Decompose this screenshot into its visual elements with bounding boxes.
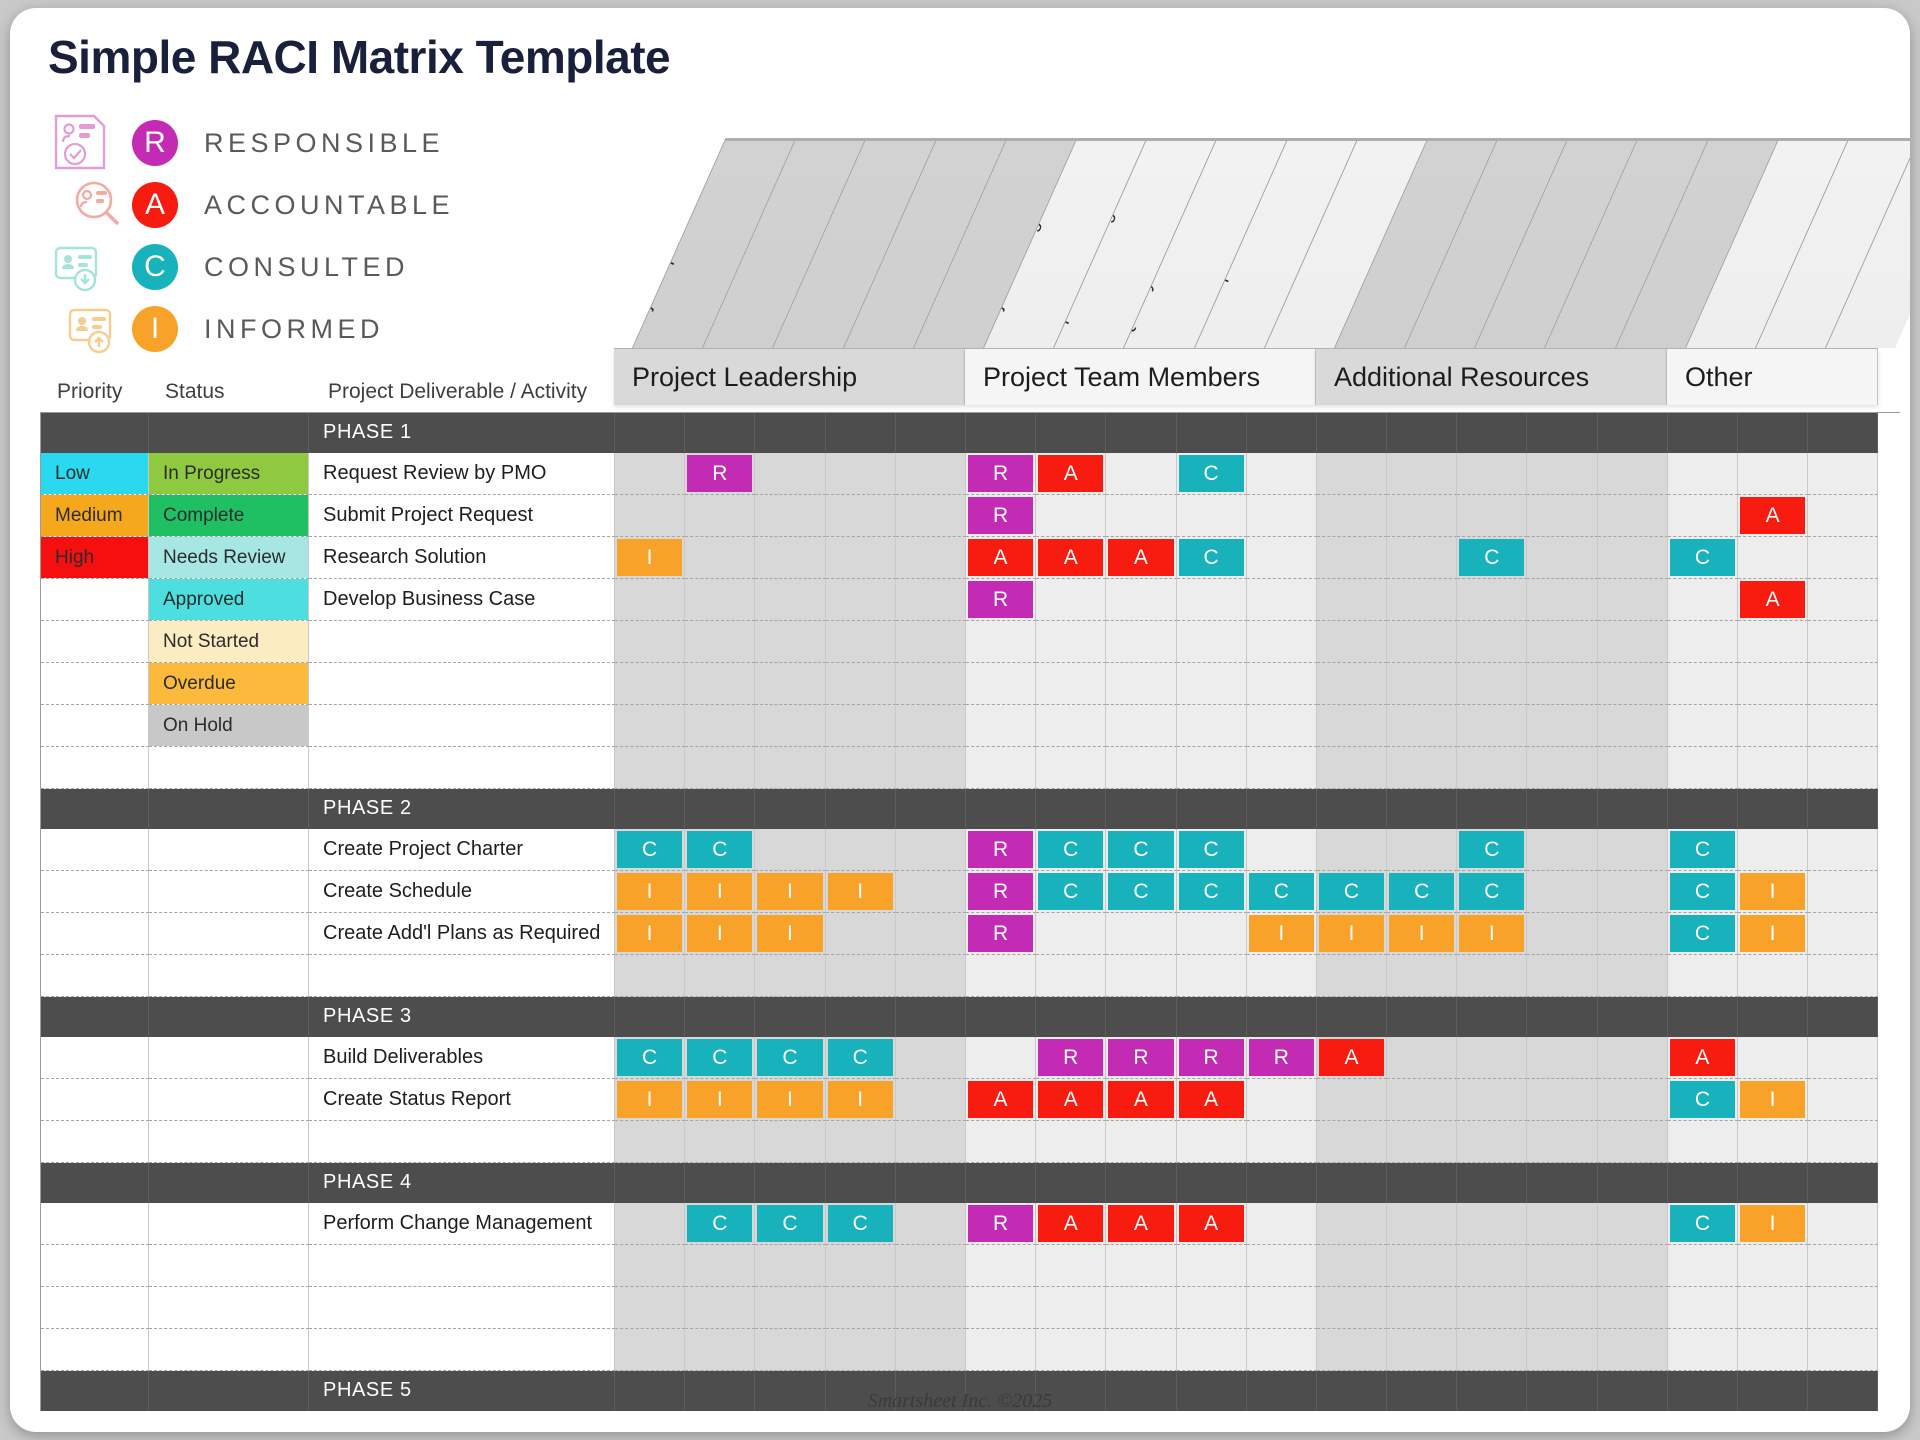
- status-cell[interactable]: [149, 1121, 309, 1163]
- raci-cell[interactable]: [1527, 663, 1597, 705]
- raci-cell[interactable]: [1387, 747, 1457, 789]
- raci-cell[interactable]: I: [615, 871, 685, 913]
- raci-cell[interactable]: [1808, 1329, 1878, 1371]
- raci-cell[interactable]: [1598, 705, 1668, 747]
- raci-cell[interactable]: [755, 537, 825, 579]
- raci-cell[interactable]: [826, 663, 896, 705]
- raci-cell[interactable]: [1177, 705, 1247, 747]
- raci-cell[interactable]: [615, 579, 685, 621]
- raci-cell[interactable]: C: [1036, 829, 1106, 871]
- raci-cell[interactable]: R: [966, 495, 1036, 537]
- raci-cell[interactable]: [685, 579, 755, 621]
- raci-cell[interactable]: [1317, 1245, 1387, 1287]
- raci-cell[interactable]: [1387, 621, 1457, 663]
- raci-cell[interactable]: [685, 413, 755, 453]
- raci-cell[interactable]: A: [1106, 537, 1176, 579]
- raci-cell[interactable]: [1808, 1163, 1878, 1203]
- status-cell[interactable]: [149, 789, 309, 829]
- raci-cell[interactable]: [1457, 997, 1527, 1037]
- activity-cell[interactable]: Build Deliverables: [309, 1037, 615, 1079]
- status-cell[interactable]: On Hold: [149, 705, 309, 747]
- raci-cell[interactable]: [755, 1245, 825, 1287]
- raci-cell[interactable]: [1247, 1245, 1317, 1287]
- status-cell[interactable]: Not Started: [149, 621, 309, 663]
- raci-cell[interactable]: C: [755, 1203, 825, 1245]
- raci-cell[interactable]: C: [1668, 829, 1738, 871]
- raci-cell[interactable]: [1808, 913, 1878, 955]
- raci-cell[interactable]: [1808, 1287, 1878, 1329]
- raci-cell[interactable]: [755, 747, 825, 789]
- raci-cell[interactable]: [1738, 1037, 1808, 1079]
- raci-cell[interactable]: [1036, 1245, 1106, 1287]
- raci-cell[interactable]: [1808, 537, 1878, 579]
- raci-cell[interactable]: [1457, 955, 1527, 997]
- raci-cell[interactable]: [1808, 705, 1878, 747]
- raci-cell[interactable]: [896, 1329, 966, 1371]
- raci-cell[interactable]: [685, 1329, 755, 1371]
- raci-cell[interactable]: [1317, 747, 1387, 789]
- raci-cell[interactable]: [1106, 663, 1176, 705]
- raci-cell[interactable]: [1668, 705, 1738, 747]
- priority-cell[interactable]: [41, 1245, 149, 1287]
- raci-cell[interactable]: C: [685, 1203, 755, 1245]
- raci-cell[interactable]: [1527, 1079, 1597, 1121]
- raci-cell[interactable]: [1036, 997, 1106, 1037]
- activity-cell[interactable]: Create Schedule: [309, 871, 615, 913]
- raci-cell[interactable]: [1527, 789, 1597, 829]
- raci-cell[interactable]: [896, 955, 966, 997]
- raci-cell[interactable]: [896, 1203, 966, 1245]
- raci-cell[interactable]: [615, 1245, 685, 1287]
- raci-cell[interactable]: [1106, 579, 1176, 621]
- raci-cell[interactable]: [1598, 789, 1668, 829]
- raci-cell[interactable]: A: [1668, 1037, 1738, 1079]
- raci-cell[interactable]: [1527, 705, 1597, 747]
- raci-cell[interactable]: [1808, 495, 1878, 537]
- raci-cell[interactable]: [1177, 1121, 1247, 1163]
- raci-cell[interactable]: [1177, 413, 1247, 453]
- raci-cell[interactable]: [1317, 829, 1387, 871]
- raci-cell[interactable]: [1808, 997, 1878, 1037]
- activity-cell[interactable]: [309, 621, 615, 663]
- raci-cell[interactable]: I: [826, 871, 896, 913]
- raci-cell[interactable]: [1527, 747, 1597, 789]
- raci-cell[interactable]: [1457, 1245, 1527, 1287]
- raci-cell[interactable]: [1387, 829, 1457, 871]
- raci-cell[interactable]: [1527, 1287, 1597, 1329]
- raci-cell[interactable]: [1527, 1037, 1597, 1079]
- priority-cell[interactable]: [41, 871, 149, 913]
- raci-cell[interactable]: [1527, 871, 1597, 913]
- phase-label[interactable]: PHASE 1: [309, 413, 615, 453]
- raci-cell[interactable]: [1668, 747, 1738, 789]
- raci-cell[interactable]: [1036, 1287, 1106, 1329]
- raci-cell[interactable]: [1527, 621, 1597, 663]
- raci-cell[interactable]: [1598, 1121, 1668, 1163]
- raci-cell[interactable]: [1738, 997, 1808, 1037]
- raci-cell[interactable]: [685, 621, 755, 663]
- raci-cell[interactable]: [1598, 997, 1668, 1037]
- raci-cell[interactable]: I: [615, 1079, 685, 1121]
- raci-cell[interactable]: A: [1036, 1203, 1106, 1245]
- raci-cell[interactable]: [826, 997, 896, 1037]
- priority-cell[interactable]: [41, 663, 149, 705]
- raci-cell[interactable]: [1808, 1037, 1878, 1079]
- raci-cell[interactable]: [1808, 1245, 1878, 1287]
- raci-cell[interactable]: [615, 955, 685, 997]
- raci-cell[interactable]: [1527, 1121, 1597, 1163]
- status-cell[interactable]: [149, 1245, 309, 1287]
- raci-cell[interactable]: [1177, 1163, 1247, 1203]
- priority-cell[interactable]: [41, 1287, 149, 1329]
- raci-cell[interactable]: [1668, 955, 1738, 997]
- raci-cell[interactable]: [1457, 1121, 1527, 1163]
- raci-cell[interactable]: [826, 747, 896, 789]
- raci-cell[interactable]: [1247, 495, 1317, 537]
- raci-cell[interactable]: C: [1177, 453, 1247, 495]
- raci-cell[interactable]: [826, 913, 896, 955]
- raci-cell[interactable]: [755, 789, 825, 829]
- raci-cell[interactable]: [1738, 955, 1808, 997]
- raci-cell[interactable]: I: [685, 871, 755, 913]
- raci-cell[interactable]: [755, 1121, 825, 1163]
- raci-cell[interactable]: [826, 705, 896, 747]
- raci-cell[interactable]: [1598, 1203, 1668, 1245]
- raci-cell[interactable]: C: [1668, 1079, 1738, 1121]
- raci-cell[interactable]: [1036, 955, 1106, 997]
- raci-cell[interactable]: [1387, 537, 1457, 579]
- raci-cell[interactable]: [1668, 1163, 1738, 1203]
- raci-cell[interactable]: [826, 413, 896, 453]
- raci-cell[interactable]: C: [1668, 871, 1738, 913]
- raci-cell[interactable]: [826, 955, 896, 997]
- raci-cell[interactable]: [966, 955, 1036, 997]
- raci-cell[interactable]: C: [615, 829, 685, 871]
- raci-cell[interactable]: [1317, 789, 1387, 829]
- raci-cell[interactable]: [1598, 1287, 1668, 1329]
- raci-cell[interactable]: [1598, 663, 1668, 705]
- raci-cell[interactable]: [1106, 413, 1176, 453]
- raci-cell[interactable]: C: [1106, 871, 1176, 913]
- raci-cell[interactable]: [1177, 663, 1247, 705]
- raci-cell[interactable]: [966, 621, 1036, 663]
- priority-cell[interactable]: [41, 1203, 149, 1245]
- group-header-additional-resources[interactable]: Additional Resources: [1316, 349, 1667, 405]
- raci-cell[interactable]: [1106, 621, 1176, 663]
- raci-cell[interactable]: [1317, 1163, 1387, 1203]
- raci-cell[interactable]: [1808, 621, 1878, 663]
- raci-cell[interactable]: [755, 1329, 825, 1371]
- raci-cell[interactable]: [685, 663, 755, 705]
- raci-cell[interactable]: [615, 663, 685, 705]
- raci-cell[interactable]: [1808, 1079, 1878, 1121]
- raci-cell[interactable]: [1106, 705, 1176, 747]
- raci-cell[interactable]: [1247, 1287, 1317, 1329]
- raci-cell[interactable]: A: [1317, 1037, 1387, 1079]
- raci-cell[interactable]: [896, 1079, 966, 1121]
- raci-cell[interactable]: [1317, 663, 1387, 705]
- raci-cell[interactable]: [1317, 1329, 1387, 1371]
- raci-cell[interactable]: I: [615, 913, 685, 955]
- raci-cell[interactable]: [896, 1037, 966, 1079]
- raci-cell[interactable]: [1317, 1287, 1387, 1329]
- raci-cell[interactable]: [1598, 747, 1668, 789]
- raci-cell[interactable]: [1457, 663, 1527, 705]
- raci-cell[interactable]: [1317, 621, 1387, 663]
- raci-cell[interactable]: A: [1036, 1079, 1106, 1121]
- raci-cell[interactable]: [755, 579, 825, 621]
- raci-cell[interactable]: [1317, 537, 1387, 579]
- raci-cell[interactable]: [1106, 1329, 1176, 1371]
- raci-cell[interactable]: [1668, 621, 1738, 663]
- raci-cell[interactable]: [1106, 955, 1176, 997]
- activity-cell[interactable]: Create Project Charter: [309, 829, 615, 871]
- priority-cell[interactable]: [41, 955, 149, 997]
- raci-cell[interactable]: I: [685, 913, 755, 955]
- raci-cell[interactable]: [1527, 1245, 1597, 1287]
- priority-cell[interactable]: [41, 789, 149, 829]
- raci-cell[interactable]: [1808, 747, 1878, 789]
- raci-cell[interactable]: I: [1738, 1203, 1808, 1245]
- raci-cell[interactable]: [896, 1121, 966, 1163]
- raci-cell[interactable]: [1738, 747, 1808, 789]
- raci-cell[interactable]: [1598, 1037, 1668, 1079]
- raci-cell[interactable]: C: [1036, 871, 1106, 913]
- status-cell[interactable]: In Progress: [149, 453, 309, 495]
- raci-cell[interactable]: [1387, 997, 1457, 1037]
- raci-cell[interactable]: [1177, 621, 1247, 663]
- status-cell[interactable]: [149, 1079, 309, 1121]
- raci-cell[interactable]: [896, 663, 966, 705]
- raci-cell[interactable]: [1247, 997, 1317, 1037]
- raci-cell[interactable]: [826, 829, 896, 871]
- raci-cell[interactable]: [826, 1287, 896, 1329]
- raci-cell[interactable]: [1457, 579, 1527, 621]
- raci-cell[interactable]: [896, 1287, 966, 1329]
- raci-cell[interactable]: [1527, 829, 1597, 871]
- phase-label[interactable]: PHASE 3: [309, 997, 615, 1037]
- status-cell[interactable]: [149, 747, 309, 789]
- activity-cell[interactable]: [309, 747, 615, 789]
- group-header-project-team-members[interactable]: Project Team Members: [965, 349, 1316, 405]
- raci-cell[interactable]: [966, 1121, 1036, 1163]
- raci-cell[interactable]: [1808, 829, 1878, 871]
- raci-cell[interactable]: [1668, 579, 1738, 621]
- raci-cell[interactable]: [1738, 1121, 1808, 1163]
- raci-cell[interactable]: [896, 871, 966, 913]
- raci-cell[interactable]: [1036, 913, 1106, 955]
- raci-cell[interactable]: [1247, 1163, 1317, 1203]
- group-header-other[interactable]: Other: [1667, 349, 1878, 405]
- raci-cell[interactable]: [966, 747, 1036, 789]
- raci-cell[interactable]: A: [1738, 579, 1808, 621]
- raci-cell[interactable]: [1387, 579, 1457, 621]
- priority-cell[interactable]: [41, 1329, 149, 1371]
- raci-cell[interactable]: [1317, 1203, 1387, 1245]
- raci-cell[interactable]: C: [1387, 871, 1457, 913]
- raci-cell[interactable]: [755, 621, 825, 663]
- raci-cell[interactable]: [1317, 1079, 1387, 1121]
- raci-cell[interactable]: [685, 789, 755, 829]
- raci-cell[interactable]: [1808, 663, 1878, 705]
- raci-cell[interactable]: [1598, 829, 1668, 871]
- status-cell[interactable]: [149, 1203, 309, 1245]
- raci-cell[interactable]: [1036, 1163, 1106, 1203]
- raci-cell[interactable]: C: [1177, 871, 1247, 913]
- raci-cell[interactable]: [1247, 789, 1317, 829]
- raci-cell[interactable]: [1808, 413, 1878, 453]
- raci-cell[interactable]: [1738, 829, 1808, 871]
- raci-cell[interactable]: [1387, 1121, 1457, 1163]
- raci-cell[interactable]: [1738, 621, 1808, 663]
- raci-cell[interactable]: [1738, 1287, 1808, 1329]
- priority-cell[interactable]: Medium: [41, 495, 149, 537]
- raci-cell[interactable]: [1738, 1329, 1808, 1371]
- raci-cell[interactable]: [615, 413, 685, 453]
- raci-cell[interactable]: [896, 913, 966, 955]
- raci-cell[interactable]: I: [755, 871, 825, 913]
- raci-cell[interactable]: [1598, 1329, 1668, 1371]
- raci-cell[interactable]: [685, 747, 755, 789]
- raci-cell[interactable]: [1457, 1079, 1527, 1121]
- raci-cell[interactable]: [685, 1245, 755, 1287]
- status-cell[interactable]: Approved: [149, 579, 309, 621]
- raci-cell[interactable]: [1177, 913, 1247, 955]
- raci-cell[interactable]: C: [1668, 1203, 1738, 1245]
- priority-cell[interactable]: [41, 621, 149, 663]
- raci-cell[interactable]: A: [1738, 495, 1808, 537]
- raci-cell[interactable]: [1457, 621, 1527, 663]
- raci-cell[interactable]: [615, 1121, 685, 1163]
- raci-cell[interactable]: [896, 1163, 966, 1203]
- raci-cell[interactable]: A: [966, 1079, 1036, 1121]
- raci-cell[interactable]: [1598, 871, 1668, 913]
- raci-cell[interactable]: [1387, 453, 1457, 495]
- raci-cell[interactable]: C: [826, 1203, 896, 1245]
- raci-cell[interactable]: R: [685, 453, 755, 495]
- raci-cell[interactable]: R: [966, 829, 1036, 871]
- raci-cell[interactable]: [1808, 579, 1878, 621]
- raci-cell[interactable]: [1668, 1121, 1738, 1163]
- raci-cell[interactable]: [1387, 663, 1457, 705]
- raci-cell[interactable]: R: [1106, 1037, 1176, 1079]
- raci-cell[interactable]: [1808, 453, 1878, 495]
- raci-cell[interactable]: [685, 1287, 755, 1329]
- raci-cell[interactable]: [1177, 1245, 1247, 1287]
- raci-cell[interactable]: [755, 955, 825, 997]
- raci-cell[interactable]: [1668, 1287, 1738, 1329]
- raci-cell[interactable]: [1598, 413, 1668, 453]
- raci-cell[interactable]: [685, 997, 755, 1037]
- raci-cell[interactable]: [1457, 789, 1527, 829]
- raci-cell[interactable]: [1738, 1163, 1808, 1203]
- raci-cell[interactable]: I: [1738, 1079, 1808, 1121]
- raci-cell[interactable]: [1317, 413, 1387, 453]
- raci-cell[interactable]: C: [1457, 537, 1527, 579]
- raci-cell[interactable]: [1177, 955, 1247, 997]
- raci-cell[interactable]: [1808, 955, 1878, 997]
- raci-cell[interactable]: [1106, 1163, 1176, 1203]
- priority-cell[interactable]: High: [41, 537, 149, 579]
- raci-cell[interactable]: [1738, 705, 1808, 747]
- phase-label[interactable]: PHASE 2: [309, 789, 615, 829]
- raci-cell[interactable]: [615, 997, 685, 1037]
- raci-cell[interactable]: [1106, 747, 1176, 789]
- raci-cell[interactable]: [615, 705, 685, 747]
- status-cell[interactable]: [149, 1287, 309, 1329]
- raci-cell[interactable]: [755, 705, 825, 747]
- raci-cell[interactable]: [826, 537, 896, 579]
- raci-cell[interactable]: [1668, 495, 1738, 537]
- raci-cell[interactable]: [615, 621, 685, 663]
- raci-cell[interactable]: [615, 453, 685, 495]
- raci-cell[interactable]: [1247, 413, 1317, 453]
- raci-cell[interactable]: [1247, 453, 1317, 495]
- raci-cell[interactable]: [1387, 1287, 1457, 1329]
- raci-cell[interactable]: [1106, 495, 1176, 537]
- raci-cell[interactable]: C: [685, 1037, 755, 1079]
- raci-cell[interactable]: [755, 829, 825, 871]
- raci-cell[interactable]: A: [1036, 537, 1106, 579]
- raci-cell[interactable]: [1247, 705, 1317, 747]
- status-cell[interactable]: Overdue: [149, 663, 309, 705]
- raci-cell[interactable]: I: [1738, 913, 1808, 955]
- raci-cell[interactable]: [755, 663, 825, 705]
- raci-cell[interactable]: [1387, 955, 1457, 997]
- raci-cell[interactable]: [755, 1287, 825, 1329]
- raci-cell[interactable]: [1527, 495, 1597, 537]
- raci-cell[interactable]: [1598, 537, 1668, 579]
- raci-cell[interactable]: C: [1247, 871, 1317, 913]
- raci-cell[interactable]: [966, 1329, 1036, 1371]
- raci-cell[interactable]: [1668, 1329, 1738, 1371]
- raci-cell[interactable]: [1247, 1121, 1317, 1163]
- raci-cell[interactable]: [826, 495, 896, 537]
- raci-cell[interactable]: [755, 997, 825, 1037]
- raci-cell[interactable]: I: [1738, 871, 1808, 913]
- status-cell[interactable]: [149, 955, 309, 997]
- raci-cell[interactable]: [896, 413, 966, 453]
- raci-cell[interactable]: [896, 705, 966, 747]
- status-cell[interactable]: [149, 413, 309, 453]
- raci-cell[interactable]: R: [966, 913, 1036, 955]
- raci-cell[interactable]: [1317, 1121, 1387, 1163]
- status-cell[interactable]: [149, 997, 309, 1037]
- raci-cell[interactable]: [1527, 997, 1597, 1037]
- raci-cell[interactable]: [1738, 789, 1808, 829]
- raci-cell[interactable]: I: [755, 1079, 825, 1121]
- priority-cell[interactable]: [41, 997, 149, 1037]
- activity-cell[interactable]: [309, 705, 615, 747]
- raci-cell[interactable]: R: [1177, 1037, 1247, 1079]
- raci-cell[interactable]: [1387, 1203, 1457, 1245]
- raci-cell[interactable]: [1527, 453, 1597, 495]
- raci-cell[interactable]: C: [826, 1037, 896, 1079]
- status-cell[interactable]: Complete: [149, 495, 309, 537]
- priority-cell[interactable]: [41, 1037, 149, 1079]
- raci-cell[interactable]: [966, 1245, 1036, 1287]
- raci-cell[interactable]: I: [615, 537, 685, 579]
- raci-cell[interactable]: [826, 1163, 896, 1203]
- raci-cell[interactable]: [1317, 955, 1387, 997]
- raci-cell[interactable]: [1598, 621, 1668, 663]
- raci-cell[interactable]: [1106, 1287, 1176, 1329]
- raci-cell[interactable]: [1387, 789, 1457, 829]
- raci-cell[interactable]: [755, 413, 825, 453]
- raci-cell[interactable]: [1036, 413, 1106, 453]
- raci-cell[interactable]: [1387, 1037, 1457, 1079]
- raci-cell[interactable]: [1457, 1037, 1527, 1079]
